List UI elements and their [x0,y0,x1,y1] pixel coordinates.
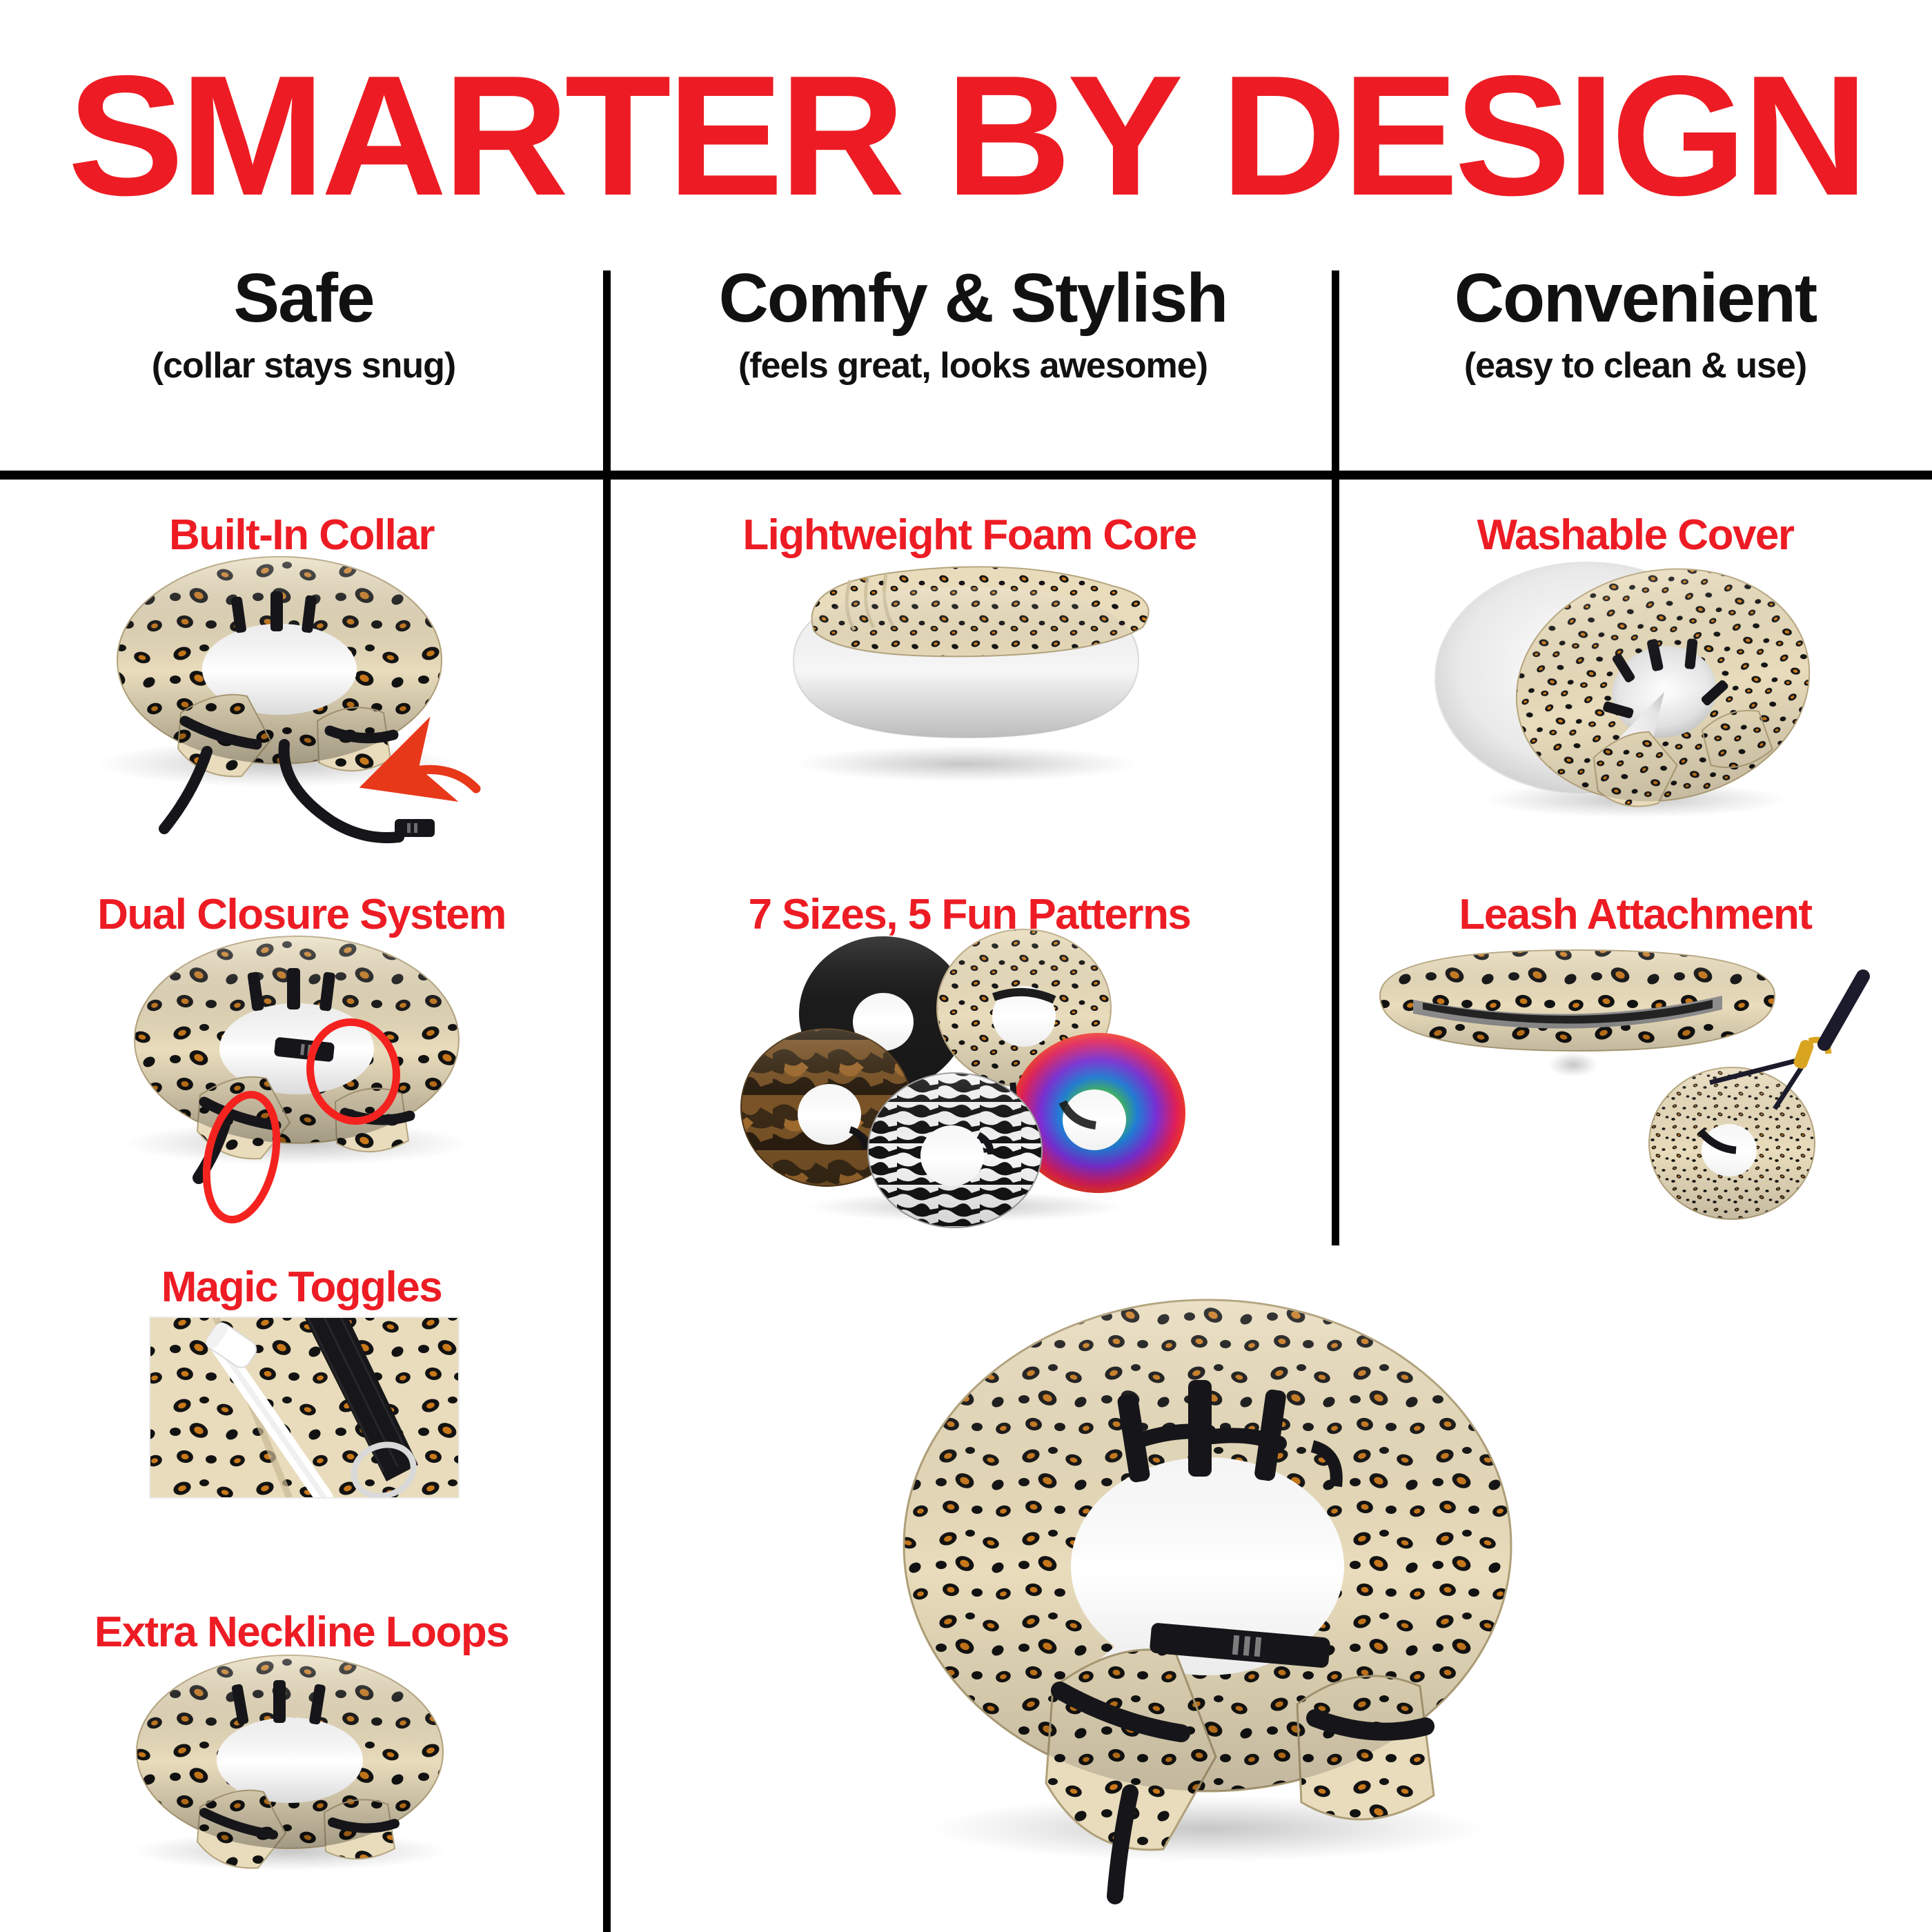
feature-art-neckline-loops [0,1654,603,1889]
column-subheading: (feels great, looks awesome) [607,345,1339,386]
feature-washable-cover: Washable Cover [1339,514,1932,833]
column-subheading: (easy to clean & use) [1339,345,1932,386]
column-header-convenient: Convenient (easy to clean & use) [1339,262,1932,386]
feature-label: Dual Closure System [0,894,603,936]
feature-art-foam-core [607,557,1332,805]
column-heading: Safe [0,262,607,334]
header-divider-right [1332,270,1339,471]
feature-label: Extra Neckline Loops [0,1611,603,1654]
column-subheading: (collar stays snug) [0,345,607,386]
feature-lightweight-foam-core: Lightweight Foam Core [607,514,1332,805]
column-header-safe: Safe (collar stays snug) [0,262,607,386]
feature-built-in-collar: Built-In Collar [0,514,603,833]
feature-extra-neckline-loops: Extra Neckline Loops [0,1611,603,1889]
hero-product-image [849,1276,1580,1897]
column-heading: Comfy & Stylish [607,262,1339,334]
feature-leash-attachment: Leash Attachment [1339,894,1932,1226]
feature-label: Built-In Collar [0,514,603,557]
feature-art-built-in-collar [0,557,603,833]
page-title: SMARTER BY DESIGN [0,50,1932,221]
collar-pattern-zebra [868,1073,1042,1228]
toggle-closeup-photo [150,1291,459,1516]
feature-label: Leash Attachment [1339,894,1932,936]
feature-art-washable-cover [1339,557,1932,833]
feature-label: Washable Cover [1339,514,1932,557]
buckle-icon [395,819,435,837]
feature-dual-closure-system: Dual Closure System [0,894,603,1212]
header-bottom-rule [0,471,1932,480]
feature-art-leash-attachment [1339,936,1932,1226]
collar-side-view-with-channel [1380,950,1775,1077]
column-header-comfy-stylish: Comfy & Stylish (feels great, looks awes… [607,262,1339,386]
feature-art-dual-closure [0,936,603,1212]
column-headers: Safe (collar stays snug) Comfy & Stylish… [0,262,1932,469]
infographic-page: SMARTER BY DESIGN Safe (collar stays snu… [0,0,1932,1932]
feature-label: 7 Sizes, 5 Fun Patterns [607,894,1332,936]
feature-label: Lightweight Foam Core [607,514,1332,557]
feature-magic-toggles: Magic Toggles [0,1266,603,1530]
feature-label: Magic Toggles [0,1266,603,1309]
feature-sizes-patterns: 7 Sizes, 5 Fun Patterns [607,894,1332,1226]
header-divider-left [603,270,611,471]
feature-art-magic-toggles [0,1309,603,1530]
feature-art-pattern-group [607,936,1332,1226]
column-heading: Convenient [1339,262,1932,334]
